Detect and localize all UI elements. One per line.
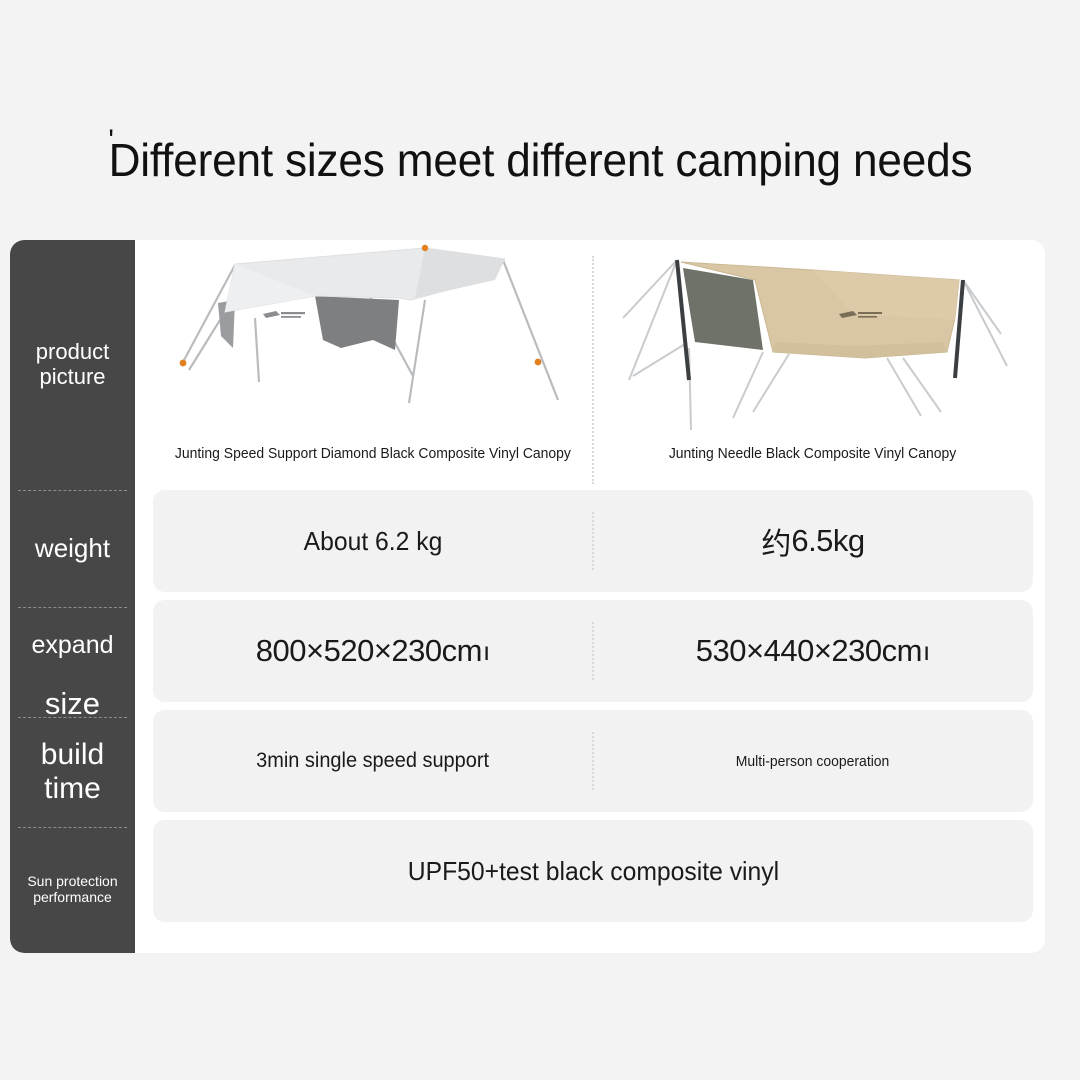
build-time-right: Multi-person cooperation <box>593 710 1033 812</box>
column-divider <box>592 622 594 680</box>
product-image-needle-canopy <box>593 240 1033 445</box>
expand-size-right: 530×440×230cmı <box>593 600 1033 702</box>
product-cell-right: Junting Needle Black Composite Vinyl Can… <box>593 240 1033 490</box>
spec-row-weight: About 6.2 kg 约6.5kg <box>153 490 1033 592</box>
sidebar-label-expand-size: expand size <box>31 603 113 722</box>
sidebar-item-weight: weight <box>10 490 135 607</box>
spec-row-build-time: 3min single speed support Multi-person c… <box>153 710 1033 812</box>
sidebar-item-expand-size: expand size <box>10 607 135 717</box>
sidebar-label-expand: expand <box>31 631 113 659</box>
column-divider <box>592 732 594 790</box>
sidebar-label-weight: weight <box>35 534 110 563</box>
page-title-text: Different sizes meet different camping n… <box>109 134 973 186</box>
sidebar-item-product-picture: product picture <box>10 240 135 490</box>
sidebar-label-build-time: build time <box>41 738 104 805</box>
expand-size-left: 800×520×230cmı <box>153 600 593 702</box>
build-time-left-text: 3min single speed support <box>257 749 490 773</box>
sidebar-label-product-picture: product picture <box>36 340 109 389</box>
weight-left-text: About 6.2 kg <box>304 526 443 557</box>
sidebar-label-sun-protection: Sun protection performance <box>27 874 117 905</box>
comparison-content: Junting Speed Support Diamond Black Comp… <box>135 240 1045 953</box>
product-cell-left: Junting Speed Support Diamond Black Comp… <box>153 240 593 490</box>
sun-protection-text: UPF50+test black composite vinyl <box>407 856 778 887</box>
weight-right-prefix: 约 <box>761 519 791 563</box>
product-caption-left: Junting Speed Support Diamond Black Comp… <box>175 445 571 462</box>
build-time-right-text: Multi-person cooperation <box>736 753 890 770</box>
expand-size-left-tail: ı <box>483 636 490 667</box>
spec-sidebar: product picture weight expand size build… <box>10 240 135 953</box>
sun-protection-value: UPF50+test black composite vinyl <box>153 820 1033 922</box>
weight-value-left: About 6.2 kg <box>153 490 593 592</box>
sidebar-item-sun-protection: Sun protection performance <box>10 827 135 953</box>
product-image-speed-support-canopy <box>153 240 593 445</box>
sidebar-label-size: size <box>45 686 100 721</box>
expand-size-right-text: 530×440×230cm <box>696 633 922 669</box>
expand-size-right-tail: ı <box>923 636 930 667</box>
comparison-card: product picture weight expand size build… <box>10 240 1045 953</box>
product-caption-right: Junting Needle Black Composite Vinyl Can… <box>669 445 956 462</box>
expand-size-left-text: 800×520×230cm <box>256 633 482 669</box>
spec-row-expand-size: 800×520×230cmı 530×440×230cmı <box>153 600 1033 702</box>
build-time-left: 3min single speed support <box>153 710 593 812</box>
column-divider <box>592 512 594 570</box>
sidebar-item-build-time: build time <box>10 717 135 827</box>
page-title: 'Different sizes meet different camping … <box>22 112 1059 189</box>
weight-right-text: 6.5kg <box>791 523 864 559</box>
product-picture-row: Junting Speed Support Diamond Black Comp… <box>153 240 1033 490</box>
weight-value-right: 约6.5kg <box>593 490 1033 592</box>
spec-row-sun-protection: UPF50+test black composite vinyl <box>153 820 1033 922</box>
